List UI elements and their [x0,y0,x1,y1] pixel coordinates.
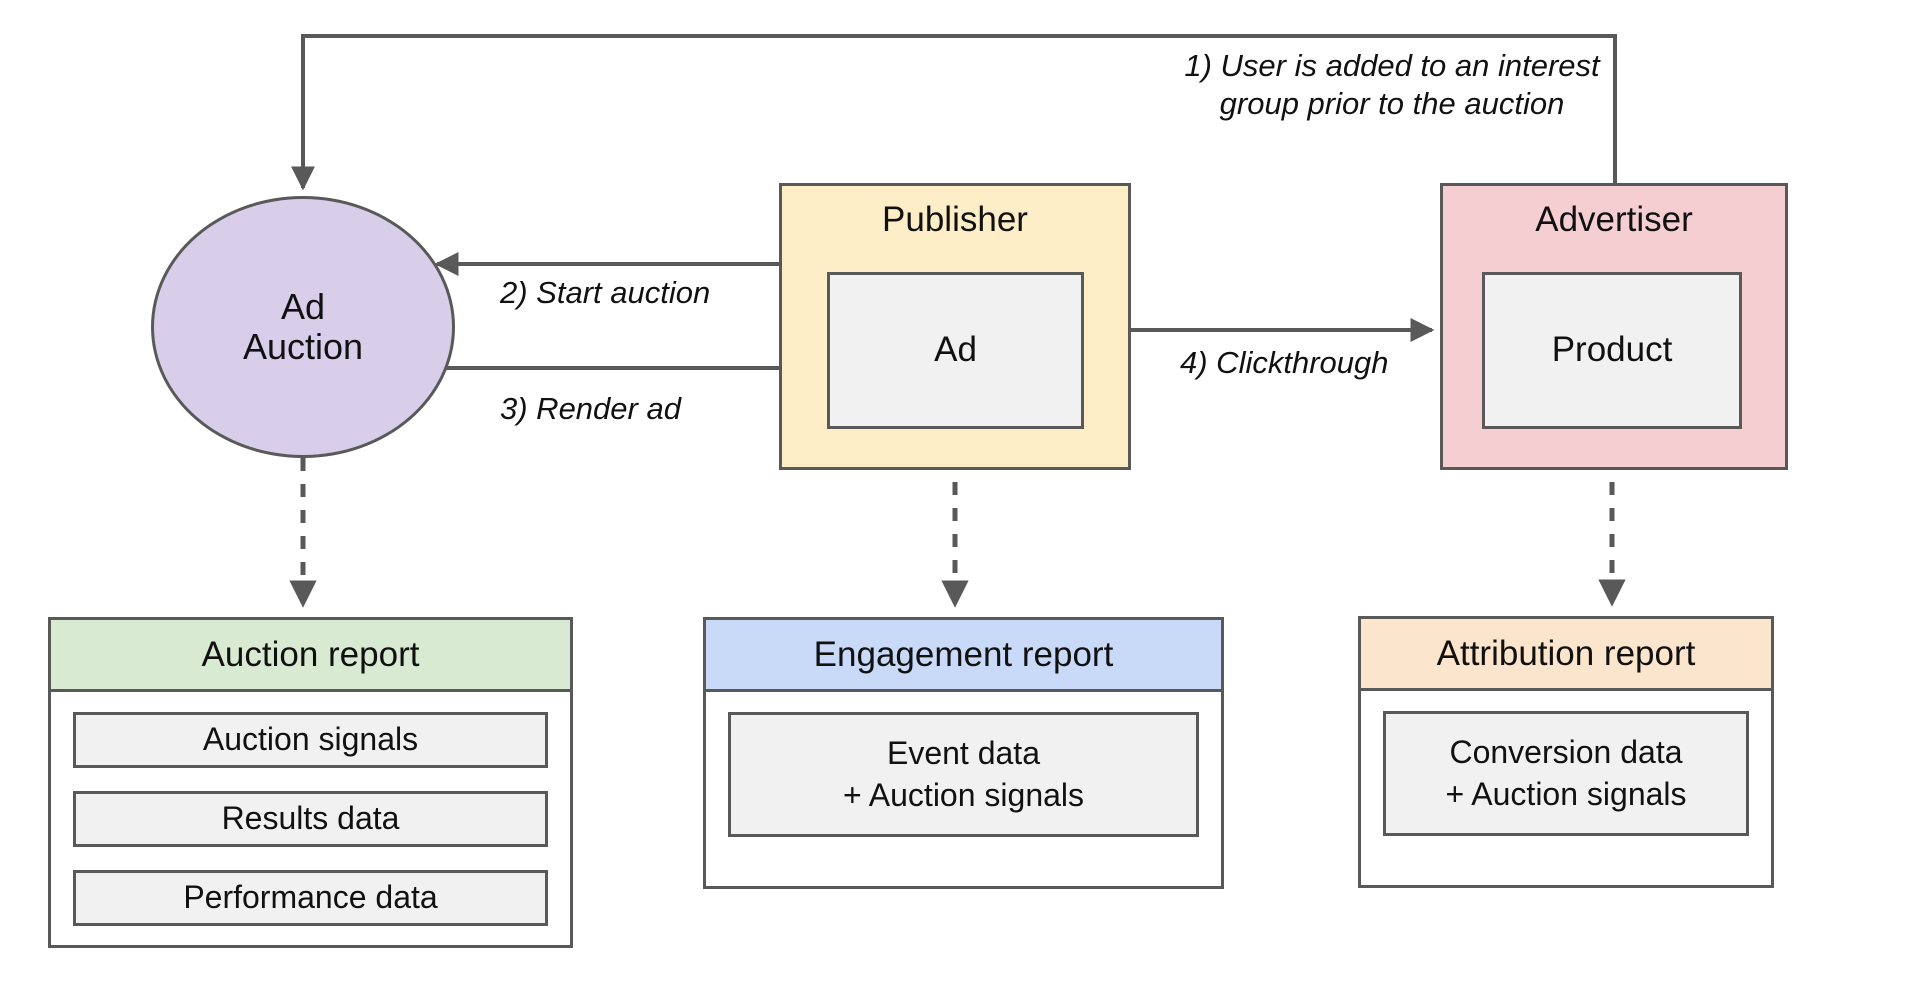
report-item[interactable]: Conversion data + Auction signals [1383,711,1749,836]
report-item-label: Event data + Auction signals [843,733,1084,816]
card-attribution-report-body: Conversion data + Auction signals [1361,691,1771,858]
card-engagement-report-body: Event data + Auction signals [706,692,1221,859]
advertiser-product-label: Product [1552,328,1673,373]
node-publisher-label: Publisher [782,201,1128,240]
node-ad-auction[interactable]: Ad Auction [151,196,455,458]
publisher-ad-slot[interactable]: Ad [827,272,1084,429]
node-advertiser-label: Advertiser [1443,201,1785,240]
diagram-canvas: Ad Auction Publisher Ad Advertiser Produ… [0,0,1908,988]
card-auction-report-header: Auction report [51,620,570,692]
card-engagement-report[interactable]: Engagement report Event data + Auction s… [703,617,1224,889]
card-attribution-report-title: Attribution report [1437,634,1696,674]
edge-label-step-4: 4) Clickthrough [1180,344,1388,382]
card-attribution-report-header: Attribution report [1361,619,1771,691]
report-item[interactable]: Performance data [73,870,548,926]
card-auction-report-body: Auction signals Results data Performance… [51,692,570,948]
node-ad-auction-label: Ad Auction [154,287,452,366]
report-item-label: Results data [222,798,400,840]
edge-label-step-3: 3) Render ad [500,390,681,428]
edge-label-step-2: 2) Start auction [500,274,710,312]
card-auction-report[interactable]: Auction report Auction signals Results d… [48,617,573,948]
report-item-label: Performance data [183,877,437,919]
report-item[interactable]: Auction signals [73,712,548,768]
publisher-ad-slot-label: Ad [934,328,977,373]
advertiser-product-box[interactable]: Product [1482,272,1742,429]
report-item-label: Conversion data + Auction signals [1445,732,1686,815]
card-attribution-report[interactable]: Attribution report Conversion data + Auc… [1358,616,1774,888]
report-item[interactable]: Event data + Auction signals [728,712,1199,837]
report-item-label: Auction signals [203,719,418,761]
card-engagement-report-title: Engagement report [814,635,1114,675]
card-engagement-report-header: Engagement report [706,620,1221,692]
card-auction-report-title: Auction report [202,635,420,675]
report-item[interactable]: Results data [73,791,548,847]
edge-label-step-1: 1) User is added to an interest group pr… [1172,47,1612,123]
